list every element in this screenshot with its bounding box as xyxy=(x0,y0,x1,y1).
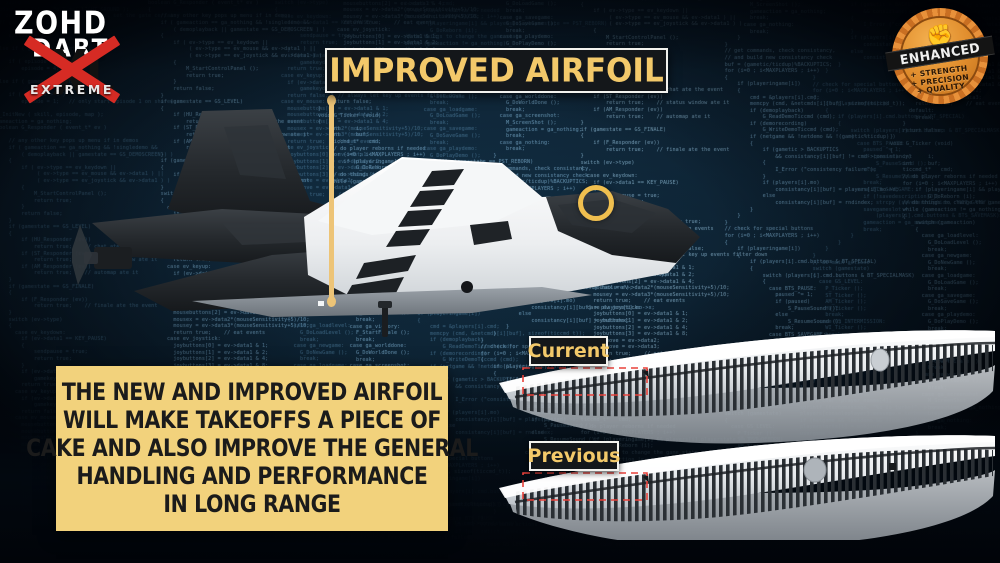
statement-line-1: WILL MAKE TAKEOFFS A PIECE OF xyxy=(63,406,441,436)
brand-extreme: EXTREME xyxy=(30,82,114,97)
pointer-bar xyxy=(329,101,334,301)
brand-logo: ZOHD DART XL EXTREME xyxy=(8,6,158,102)
statement-line-0: THE NEW AND IMPROVED AIRFOIL xyxy=(62,377,442,407)
aircraft-render xyxy=(72,105,712,340)
pointer-cap-bottom xyxy=(327,296,336,307)
promo-graphic: // using mc mdName = P.FileNumForName( L… xyxy=(0,0,1000,563)
statement-line-4: IN LONG RANGE xyxy=(163,490,340,520)
enhanced-badge: ✊ ENHANCED + STRENGTH + PRECISION + QUAL… xyxy=(892,8,988,104)
title-plate: IMPROVED AIRFOIL xyxy=(325,48,668,93)
current-label: Current xyxy=(528,340,610,362)
nose-highlight-ring xyxy=(578,185,614,221)
previous-label: Previous xyxy=(528,445,621,467)
statement-line-2: CAKE AND ALSO IMPROVE THE GENERAL xyxy=(26,434,478,464)
page-title: IMPROVED AIRFOIL xyxy=(329,51,663,89)
statement-line-3: HANDLING AND PERFORMANCE xyxy=(76,462,427,492)
airfoil-pointer-line xyxy=(327,95,336,307)
statement-box: THE NEW AND IMPROVED AIRFOIL WILL MAKE T… xyxy=(56,366,448,531)
current-label-plate: Current xyxy=(529,336,608,366)
previous-label-plate: Previous xyxy=(529,441,619,471)
